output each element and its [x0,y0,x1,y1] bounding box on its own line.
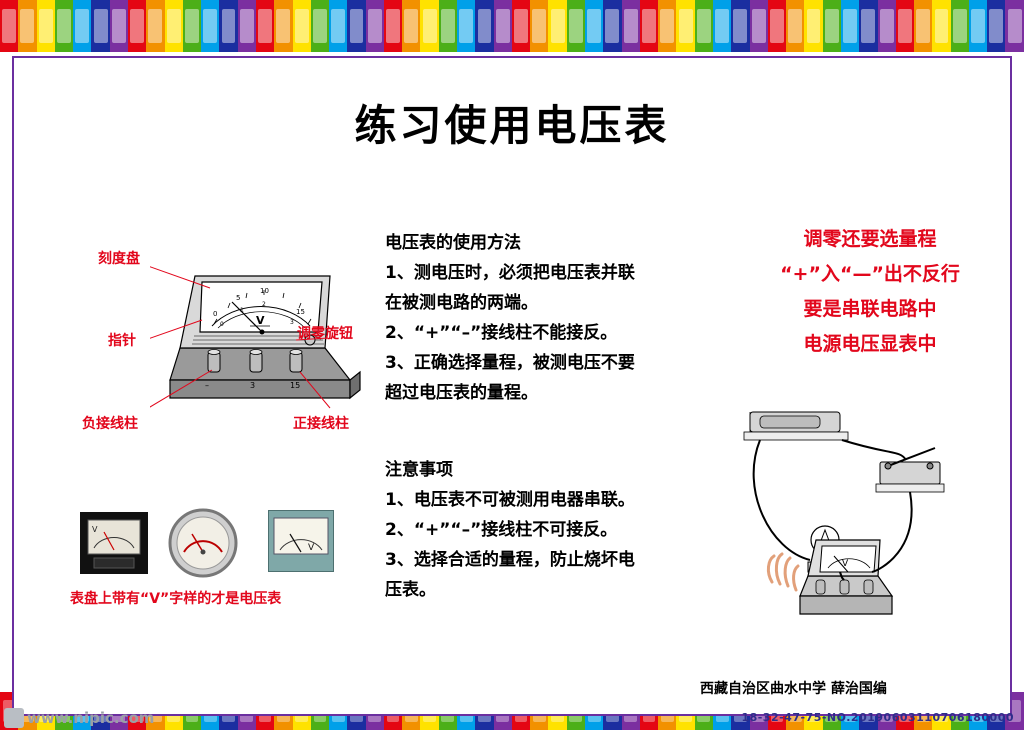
strip-cell [512,0,530,52]
strip-cell [183,0,201,52]
strip-cell [603,0,621,52]
watermark-text: www.nipic.com [27,709,154,727]
photo-gauge-round [168,508,238,578]
strip-cell [439,0,457,52]
strip-cell [859,0,877,52]
strip-cell [420,0,438,52]
svg-text:10: 10 [260,287,269,295]
strip-cell [640,0,658,52]
strip-cell [219,0,237,52]
poem-line-3: 要是串联电路中 [740,292,1000,327]
strip-cell [494,0,512,52]
strip-cell [676,0,694,52]
strip-cell [695,0,713,52]
svg-text:0: 0 [220,321,224,328]
svg-text:5: 5 [236,294,240,302]
strip-cell [293,0,311,52]
strip-cell [548,0,566,52]
decorative-strip-top [0,0,1024,52]
strip-cell [567,0,585,52]
strip-cell [768,0,786,52]
strip-cell [146,0,164,52]
strip-cell [658,0,676,52]
svg-text:15: 15 [296,308,305,316]
strip-cell [457,0,475,52]
strip-cell [475,0,493,52]
strip-cell [841,0,859,52]
strip-cell [110,0,128,52]
strip-cell [932,0,950,52]
watermark-code: 18-32-47-75-NO.20190603110706180000 [741,711,1014,724]
notes-line-3: 3、选择合适的量程，防止烧坏电 [385,545,715,575]
strip-cell [530,0,548,52]
strip-cell [896,0,914,52]
label-pointer: 指针 [108,330,136,350]
svg-text:–: – [205,381,209,390]
strip-cell [0,0,18,52]
label-negative-terminal: 负接线柱 [82,413,138,433]
strip-cell [311,0,329,52]
strip-cell [878,0,896,52]
strip-cell [402,0,420,52]
photo-voltmeter-panel: V [268,510,334,572]
usage-heading: 电压表的使用方法 [385,228,715,258]
label-zero-knob: 调零旋钮 [297,323,353,343]
strip-cell [366,0,384,52]
usage-text-block: 电压表的使用方法 1、测电压时，必须把电压表并联 在被测电路的两端。 2、“+”… [385,228,715,408]
strip-cell [969,0,987,52]
strip-cell [274,0,292,52]
strip-cell [329,0,347,52]
strip-cell [585,0,603,52]
notes-line-2: 2、“+”“–”接线柱不可接反。 [385,515,715,545]
strip-cell [256,0,274,52]
strip-cell [73,0,91,52]
strip-cell [823,0,841,52]
usage-line-3: 2、“+”“–”接线柱不能接反。 [385,318,715,348]
svg-text:2: 2 [262,301,266,308]
svg-text:15: 15 [290,381,300,390]
strip-cell [1005,0,1023,52]
poem-line-4: 电源电压显表中 [740,327,1000,362]
strip-cell [347,0,365,52]
mnemonic-poem: 调零还要选量程 “+”入“—”出不反行 要是串联电路中 电源电压显表中 [740,222,1000,362]
strip-cell [128,0,146,52]
poem-line-1: 调零还要选量程 [740,222,1000,257]
circuit-illustration: V [730,400,980,670]
strip-cell [91,0,109,52]
usage-line-1: 1、测电压时，必须把电压表并联 [385,258,715,288]
strip-cell [18,0,36,52]
page-title: 练习使用电压表 [0,92,1024,153]
notes-line-4: 压表。 [385,575,715,605]
notes-heading: 注意事项 [385,455,715,485]
photo-caption: 表盘上带有“V”字样的才是电压表 [70,588,370,608]
strip-cell [384,0,402,52]
author-credit: 西藏自治区曲水中学 薛治国编 [700,678,887,698]
photo-voltmeter-black: V [80,512,148,574]
strip-cell [201,0,219,52]
strip-cell [165,0,183,52]
svg-text:3: 3 [250,381,255,390]
svg-text:V: V [92,525,98,534]
label-positive-terminal: 正接线柱 [293,413,349,433]
strip-cell [750,0,768,52]
strip-cell [914,0,932,52]
strip-cell [987,0,1005,52]
usage-line-4: 3、正确选择量程，被测电压不要 [385,348,715,378]
strip-cell [238,0,256,52]
strip-cell [786,0,804,52]
strip-cell [951,0,969,52]
strip-cell [804,0,822,52]
poem-line-2: “+”入“—”出不反行 [740,257,1000,292]
label-dial: 刻度盘 [98,248,140,268]
usage-line-2: 在被测电路的两端。 [385,288,715,318]
nipic-logo-icon [4,708,24,728]
notes-text-block: 注意事项 1、电压表不可被测用电器串联。 2、“+”“–”接线柱不可接反。 3、… [385,455,715,605]
svg-text:V: V [308,543,315,553]
notes-line-1: 1、电压表不可被测用电器串联。 [385,485,715,515]
svg-text:V: V [256,314,265,327]
svg-text:0: 0 [213,310,217,318]
watermark: www.nipic.com [4,708,154,728]
svg-text:V: V [842,559,849,569]
strip-cell [713,0,731,52]
usage-line-5: 超过电压表的量程。 [385,378,715,408]
strip-cell [622,0,640,52]
svg-text:3: 3 [290,319,294,326]
strip-cell [37,0,55,52]
strip-cell [731,0,749,52]
strip-cell [55,0,73,52]
